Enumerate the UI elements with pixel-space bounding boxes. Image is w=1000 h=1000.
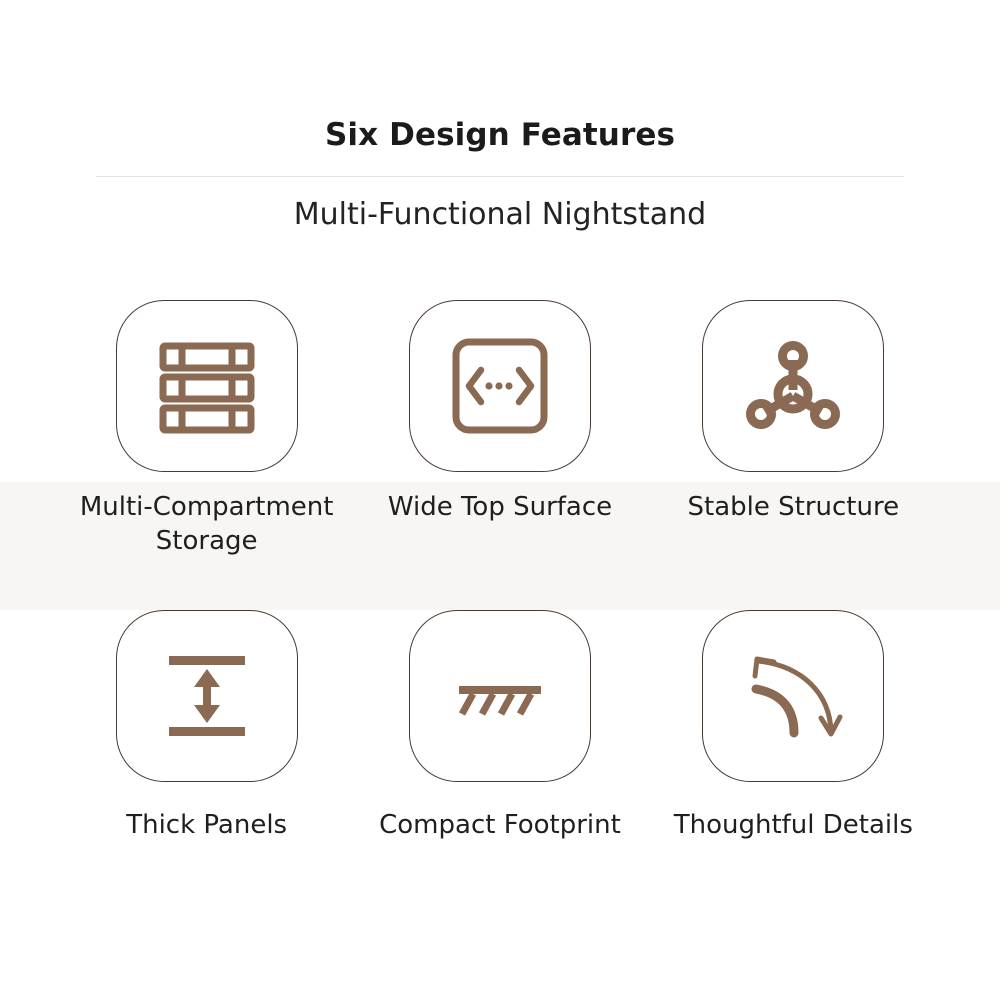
feature-item: Thoughtful Details bbox=[647, 610, 940, 920]
feature-label: Compact Footprint bbox=[379, 808, 621, 842]
feature-icon-tile bbox=[702, 300, 884, 472]
header-divider bbox=[96, 176, 904, 177]
feature-label: Wide Top Surface bbox=[388, 490, 612, 524]
page-title: Six Design Features bbox=[0, 118, 1000, 152]
curved-arrows-icon bbox=[741, 644, 845, 748]
feature-label: Thick Panels bbox=[126, 808, 287, 842]
feature-label: Multi-Compartment Storage bbox=[62, 490, 352, 559]
feature-label: Thoughtful Details bbox=[674, 808, 913, 842]
features-grid: Multi-Compartment Storage bbox=[60, 300, 940, 920]
feature-icon-tile bbox=[409, 610, 591, 782]
molecule-nodes-icon bbox=[741, 334, 845, 438]
page-subtitle: Multi-Functional Nightstand bbox=[0, 195, 1000, 234]
feature-label: Stable Structure bbox=[688, 490, 900, 524]
feature-item: Wide Top Surface bbox=[353, 300, 646, 610]
drawer-compartments-icon bbox=[155, 334, 259, 438]
hatched-ground-icon bbox=[448, 644, 552, 748]
panel-thickness-arrow-icon bbox=[155, 644, 259, 748]
horizontal-expand-arrows-icon bbox=[448, 334, 552, 438]
feature-item: Multi-Compartment Storage bbox=[60, 300, 353, 610]
feature-item: Stable Structure bbox=[647, 300, 940, 610]
feature-icon-tile bbox=[409, 300, 591, 472]
feature-infographic: Six Design Features Multi-Functional Nig… bbox=[0, 0, 1000, 1000]
feature-icon-tile bbox=[116, 300, 298, 472]
feature-icon-tile bbox=[702, 610, 884, 782]
feature-item: Compact Footprint bbox=[353, 610, 646, 920]
feature-item: Thick Panels bbox=[60, 610, 353, 920]
feature-icon-tile bbox=[116, 610, 298, 782]
